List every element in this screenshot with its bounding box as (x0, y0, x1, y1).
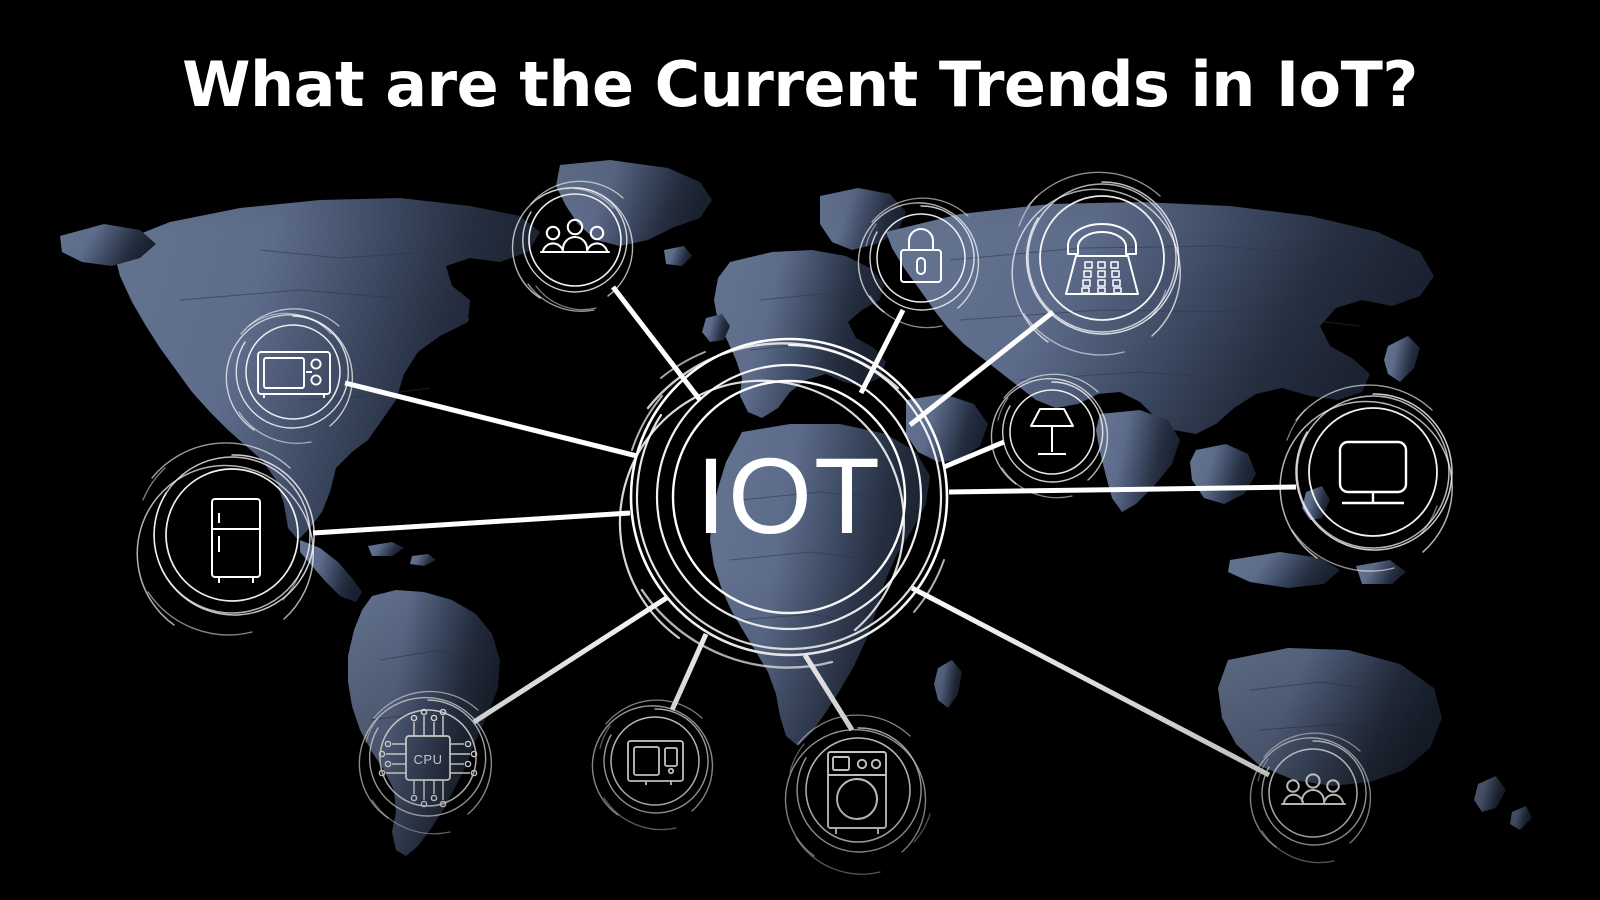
iot-hub[interactable]: IOT (0, 0, 1600, 900)
page-title: What are the Current Trends in IoT? (0, 48, 1600, 121)
iot-infographic: CPU (0, 0, 1600, 900)
hub-label: IOT (696, 435, 882, 556)
